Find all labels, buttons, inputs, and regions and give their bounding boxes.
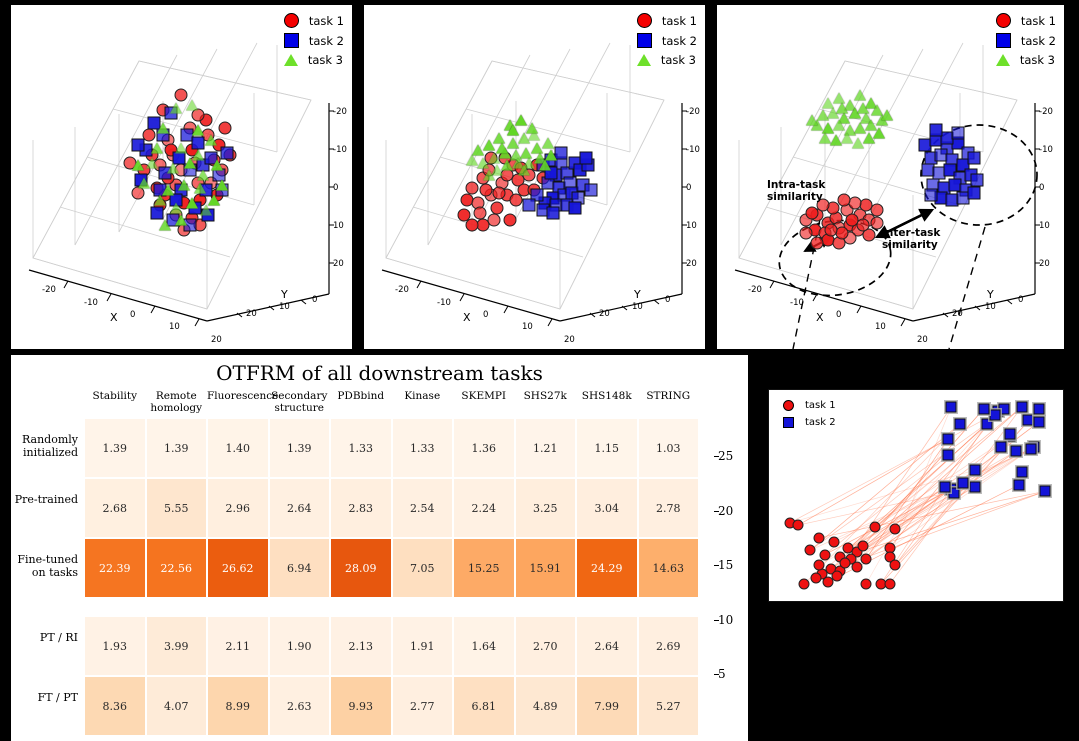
data-point	[869, 522, 880, 533]
ztick: -20	[686, 107, 700, 117]
legend-label: task 2	[309, 34, 344, 48]
data-point	[805, 206, 818, 219]
data-point	[192, 125, 204, 136]
heatmap-column-header: Remotehomology	[146, 391, 208, 414]
heatmap-column-header: Secondarystructure	[269, 391, 331, 414]
ytick: 20	[952, 309, 963, 319]
data-point	[496, 142, 508, 153]
legend-item-task3: task 3	[284, 53, 344, 67]
data-point	[836, 102, 848, 113]
legend-inset: task 1 task 2	[783, 400, 836, 428]
heatmap-column-header: SKEMPI	[453, 391, 515, 403]
heatmap-cell: 2.24	[453, 478, 515, 538]
data-point	[967, 186, 980, 199]
heatmap-cell: 9.93	[330, 676, 392, 736]
data-point	[813, 560, 824, 571]
legend-item-task2: task 2	[637, 33, 697, 48]
square-marker-icon	[783, 417, 794, 428]
heatmap-cell: 15.91	[515, 538, 577, 598]
ztick: 20	[333, 259, 344, 269]
ytick: 20	[246, 309, 257, 319]
data-point	[884, 579, 895, 590]
data-point	[1025, 444, 1036, 455]
data-point	[170, 202, 182, 213]
data-point	[479, 184, 492, 197]
colorbar-tick-mark	[714, 565, 719, 566]
xtick: 10	[169, 322, 180, 332]
colorbar-tick-label: 20	[718, 504, 733, 518]
ytick: 0	[312, 295, 317, 305]
inter-task-annotation: Inter-task similarity	[882, 227, 940, 251]
scatter-panel-partial: task 1 task 2 task 3 X Y -20 -10 0 10 20…	[364, 5, 705, 349]
legend-label: task 2	[1021, 34, 1056, 48]
heatmap-cell: 2.13	[330, 616, 392, 676]
heatmap-cell: 2.64	[576, 616, 638, 676]
xtick: -10	[437, 298, 451, 308]
data-point	[858, 541, 869, 552]
data-point	[890, 524, 901, 535]
square-marker-icon	[637, 33, 652, 48]
data-point	[218, 121, 231, 134]
data-point	[208, 195, 220, 206]
circle-marker-icon	[996, 13, 1011, 28]
data-point	[170, 102, 182, 113]
scatter-panel-separated: task 1 task 2 task 3 Intra-task similari…	[717, 5, 1064, 349]
data-point	[811, 572, 822, 583]
heatmap-cell: 1.33	[330, 418, 392, 478]
data-point	[483, 170, 495, 181]
heatmap-cell: 1.91	[392, 616, 454, 676]
ztick: 0	[1039, 183, 1044, 193]
triangle-marker-icon	[996, 54, 1010, 66]
data-point	[852, 562, 863, 573]
heatmap-cell: 1.40	[207, 418, 269, 478]
heatmap-column-header: SHS27k	[515, 391, 577, 403]
heatmap-cell: 28.09	[330, 538, 392, 598]
xtick: 0	[836, 310, 841, 320]
data-point	[943, 450, 954, 461]
heatmap-column-header: Stability	[84, 391, 146, 403]
heatmap-column-header: SHS148k	[576, 391, 638, 403]
colorbar-tick-mark	[714, 674, 719, 675]
data-point	[579, 151, 592, 164]
data-point	[943, 433, 954, 444]
data-point	[800, 226, 813, 239]
circle-marker-icon	[783, 400, 794, 411]
heatmap-cell: 1.03	[638, 418, 700, 478]
triangle-marker-icon	[284, 54, 298, 66]
data-point	[861, 553, 872, 564]
heatmap-column-header: PDBbind	[330, 391, 392, 403]
legend-panel1: task 1 task 2 task 3	[284, 13, 344, 67]
heatmap-cell: 1.64	[453, 616, 515, 676]
data-point	[811, 236, 824, 249]
xtick: 20	[564, 335, 575, 345]
data-point	[1013, 479, 1024, 490]
axis-label-x: X	[110, 311, 118, 324]
ztick: 20	[1039, 259, 1050, 269]
data-point	[890, 560, 901, 571]
data-point	[1010, 446, 1021, 457]
data-point	[1022, 414, 1033, 425]
ytick: 0	[665, 295, 670, 305]
data-point	[488, 152, 500, 163]
heatmap-cell: 22.56	[146, 538, 208, 598]
xtick: 20	[917, 335, 928, 345]
data-point	[1034, 403, 1045, 414]
heatmap-column-header: Kinase	[392, 391, 454, 403]
legend-panel3: task 1 task 2 task 3	[996, 13, 1056, 67]
data-point	[151, 142, 163, 153]
data-point	[1016, 467, 1027, 478]
circle-marker-icon	[284, 13, 299, 28]
data-point	[846, 214, 859, 227]
data-point	[157, 122, 169, 133]
heatmap-cell: 2.68	[84, 478, 146, 538]
colorbar-tick-label: 5	[718, 667, 726, 681]
data-point	[466, 219, 479, 232]
axis-label-x: X	[463, 311, 471, 324]
xtick: -20	[42, 285, 56, 295]
legend-item-task3: task 3	[996, 53, 1056, 67]
colorbar-tick-label: 25	[718, 449, 733, 463]
data-point	[990, 410, 1001, 421]
data-point	[178, 180, 190, 191]
ztick: -10	[686, 145, 700, 155]
legend-item-task2: task 2	[996, 33, 1056, 48]
heatmap-row-header: PT / RI	[11, 632, 78, 645]
heatmap-cell: 2.83	[330, 478, 392, 538]
data-point	[477, 157, 489, 168]
heatmap-row-header: Pre-trained	[11, 494, 78, 507]
data-point	[175, 215, 187, 226]
heatmap-cell: 15.25	[453, 538, 515, 598]
data-point	[861, 579, 872, 590]
data-point	[501, 160, 513, 171]
heatmap-row-header: Randomlyinitialized	[11, 434, 78, 459]
data-point	[138, 177, 150, 188]
ztick: 20	[686, 259, 697, 269]
xtick: -20	[395, 285, 409, 295]
intra-task-line2: similarity	[767, 191, 825, 203]
ztick: -20	[1039, 107, 1053, 117]
data-point	[526, 122, 538, 133]
legend-label: task 2	[662, 34, 697, 48]
axis-label-x: X	[816, 311, 824, 324]
ytick: 10	[985, 302, 996, 312]
coupling-inset-panel: task 1 task 2	[768, 389, 1064, 602]
data-point	[216, 180, 228, 191]
data-point	[542, 137, 554, 148]
heatmap-cell: 1.39	[269, 418, 331, 478]
legend-label: task 1	[309, 14, 344, 28]
ytick: 0	[1018, 295, 1023, 305]
heatmap-cell: 1.39	[84, 418, 146, 478]
data-point	[924, 189, 937, 202]
data-point	[186, 197, 198, 208]
heatmap-cell: 8.99	[207, 676, 269, 736]
axis-label-y: Y	[987, 288, 994, 301]
colorbar-tick-label: 15	[718, 558, 733, 572]
heatmap-panel: OTFRM of all downstream tasks StabilityR…	[11, 355, 748, 741]
heatmap-title: OTFRM of all downstream tasks	[11, 361, 748, 385]
legend-item-task1: task 1	[996, 13, 1056, 28]
legend-label: task 3	[1020, 53, 1055, 67]
data-point	[819, 549, 830, 560]
triangle-marker-icon	[637, 54, 651, 66]
colorbar-tick-label: 10	[718, 613, 733, 627]
heatmap-cell: 24.29	[576, 538, 638, 598]
data-point	[191, 136, 204, 149]
xtick: 10	[875, 322, 886, 332]
legend-item-task1: task 1	[783, 400, 836, 411]
heatmap-cell: 1.93	[84, 616, 146, 676]
heatmap-cell: 7.99	[576, 676, 638, 736]
heatmap-cell: 6.81	[453, 676, 515, 736]
data-point	[466, 155, 478, 166]
heatmap-cell: 3.04	[576, 478, 638, 538]
heatmap-cell: 4.07	[146, 676, 208, 736]
heatmap-cell: 1.33	[392, 418, 454, 478]
data-point	[200, 205, 212, 216]
data-point	[805, 545, 816, 556]
xtick: 20	[211, 335, 222, 345]
data-point	[970, 174, 983, 187]
square-marker-icon	[284, 33, 299, 48]
data-point	[978, 403, 989, 414]
data-point	[1016, 401, 1027, 412]
data-point	[132, 160, 144, 171]
ytick: 20	[599, 309, 610, 319]
data-point	[969, 465, 980, 476]
colorbar-tick-mark	[714, 620, 719, 621]
data-point	[132, 139, 145, 152]
xtick: 0	[130, 310, 135, 320]
data-point	[205, 135, 217, 146]
colorbar-tick-mark	[714, 511, 719, 512]
legend-item-task1: task 1	[637, 13, 697, 28]
xtick: 10	[522, 322, 533, 332]
data-point	[483, 140, 495, 151]
ztick: 10	[333, 221, 344, 231]
heatmap-cell: 14.63	[638, 538, 700, 598]
data-point	[955, 418, 966, 429]
heatmap-cell: 2.63	[269, 676, 331, 736]
data-point	[184, 157, 196, 168]
data-point	[151, 206, 164, 219]
heatmap-cell: 2.78	[638, 478, 700, 538]
data-point	[840, 558, 851, 569]
heatmap-cell: 2.54	[392, 478, 454, 538]
xtick: -10	[84, 298, 98, 308]
intra-task-line1: Intra-task	[767, 179, 825, 191]
ztick: 0	[333, 183, 338, 193]
data-point	[555, 146, 568, 159]
heatmap-cell: 1.36	[453, 418, 515, 478]
data-point	[523, 199, 536, 212]
heatmap-cell: 2.11	[207, 616, 269, 676]
data-point	[969, 482, 980, 493]
data-point	[221, 146, 234, 159]
legend-label: task 3	[661, 53, 696, 67]
xtick: -10	[790, 298, 804, 308]
data-point	[504, 214, 517, 227]
ztick: 10	[1039, 221, 1050, 231]
heatmap-column-header: STRING	[638, 391, 700, 403]
axis-label-y: Y	[634, 288, 641, 301]
heatmap-cell: 5.27	[638, 676, 700, 736]
data-point	[951, 126, 964, 139]
legend-item-task3: task 3	[637, 53, 697, 67]
data-point	[194, 182, 206, 193]
legend-label: task 1	[1021, 14, 1056, 28]
data-point	[881, 110, 893, 121]
data-point	[793, 520, 804, 531]
data-point	[946, 401, 957, 412]
data-point	[568, 201, 581, 214]
data-point	[873, 127, 885, 138]
data-point	[824, 224, 837, 237]
axis-label-y: Y	[281, 288, 288, 301]
data-point	[493, 186, 506, 199]
scatter-panel-mixed: task 1 task 2 task 3 X Y -20 -10 0 10 20…	[11, 5, 352, 349]
heatmap-cell: 22.39	[84, 538, 146, 598]
data-point	[175, 142, 187, 153]
ytick: 10	[632, 302, 643, 312]
heatmap-cell: 1.15	[576, 418, 638, 478]
data-point	[490, 201, 503, 214]
data-point	[539, 160, 551, 171]
legend-item-task2: task 2	[284, 33, 344, 48]
data-point	[967, 151, 980, 164]
data-point	[1040, 486, 1051, 497]
heatmap-cell: 2.69	[638, 616, 700, 676]
data-point	[197, 170, 209, 181]
heatmap-cell: 8.36	[84, 676, 146, 736]
data-point	[996, 441, 1007, 452]
heatmap-cell: 3.25	[515, 478, 577, 538]
ztick: 10	[686, 221, 697, 231]
legend-label: task 2	[805, 417, 836, 428]
data-point	[186, 100, 198, 111]
legend-item-task1: task 1	[284, 13, 344, 28]
data-point	[547, 206, 560, 219]
heatmap-cell: 5.55	[146, 478, 208, 538]
ztick: -10	[1039, 145, 1053, 155]
square-marker-icon	[996, 33, 1011, 48]
ztick: -10	[333, 145, 347, 155]
circle-marker-icon	[637, 13, 652, 28]
legend-panel2: task 1 task 2 task 3	[637, 13, 697, 67]
heatmap-cell: 1.21	[515, 418, 577, 478]
heatmap-cell: 2.64	[269, 478, 331, 538]
heatmap-row-header: Fine-tunedon tasks	[11, 554, 78, 579]
heatmap-cell: 3.99	[146, 616, 208, 676]
data-point	[507, 125, 519, 136]
inter-task-line1: Inter-task	[882, 227, 940, 239]
ztick: 0	[686, 183, 691, 193]
heatmap-column-header: Fluorescence	[207, 391, 269, 403]
data-point	[154, 195, 166, 206]
xtick: -20	[748, 285, 762, 295]
heatmap-cell: 2.96	[207, 478, 269, 538]
data-point	[159, 220, 171, 231]
legend-item-task2: task 2	[783, 417, 836, 428]
heatmap-cell: 4.89	[515, 676, 577, 736]
heatmap-cell: 2.77	[392, 676, 454, 736]
data-point	[838, 194, 851, 207]
data-point	[828, 536, 839, 547]
intra-task-annotation: Intra-task similarity	[767, 179, 825, 203]
data-point	[1005, 429, 1016, 440]
heatmap-cell: 6.94	[269, 538, 331, 598]
legend-label: task 3	[308, 53, 343, 67]
legend-label: task 1	[805, 400, 836, 411]
data-point	[518, 165, 530, 176]
data-point	[930, 124, 943, 137]
data-point	[940, 482, 951, 493]
data-point	[799, 579, 810, 590]
data-point	[958, 477, 969, 488]
colorbar-tick-mark	[714, 456, 719, 457]
data-point	[167, 162, 179, 173]
heatmap-row-header: FT / PT	[11, 692, 78, 705]
data-point	[466, 181, 479, 194]
data-point	[1034, 416, 1045, 427]
heatmap-cell: 7.05	[392, 538, 454, 598]
legend-label: task 1	[662, 14, 697, 28]
heatmap-cell: 1.39	[146, 418, 208, 478]
data-point	[474, 206, 487, 219]
heatmap-cell: 26.62	[207, 538, 269, 598]
heatmap-cell: 1.90	[269, 616, 331, 676]
heatmap-cell: 2.70	[515, 616, 577, 676]
data-point	[831, 570, 842, 581]
data-point	[857, 102, 869, 113]
ztick: -20	[333, 107, 347, 117]
ytick: 10	[279, 302, 290, 312]
data-point	[585, 184, 598, 197]
xtick: 0	[483, 310, 488, 320]
data-point	[211, 160, 223, 171]
data-point	[146, 157, 158, 168]
data-point	[813, 532, 824, 543]
inter-task-line2: similarity	[882, 239, 940, 251]
data-point	[806, 115, 818, 126]
